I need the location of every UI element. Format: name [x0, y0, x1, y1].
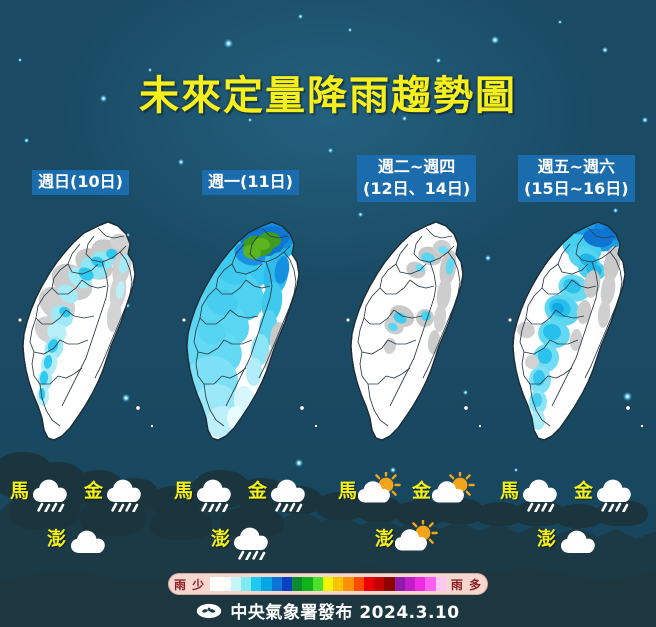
- rain-icon: [194, 472, 238, 510]
- day-label-line2: (12日、14日): [363, 178, 470, 200]
- day-label-line2: (15日~16日): [524, 178, 629, 200]
- legend-swatch-11: [323, 577, 333, 591]
- island-label: 澎: [537, 530, 556, 549]
- footer-text: 中央氣象署發布 2024.3.10: [230, 598, 459, 623]
- offshore-islet: [478, 424, 481, 427]
- island-kinmen: 金: [248, 472, 312, 510]
- offshore-islands-panel-1: 馬 金 澎: [2, 468, 166, 568]
- island-matsu: 馬: [174, 472, 238, 510]
- offshore-islet: [508, 318, 512, 322]
- legend-swatch-10: [313, 577, 323, 591]
- offshore-islands-panel-2: 馬 金 澎: [166, 468, 330, 568]
- taiwan-map-svg: [166, 212, 330, 472]
- offshore-islands-panel-4: 馬 金 澎: [492, 468, 656, 568]
- island-penghu: 澎: [537, 520, 601, 558]
- rainfall-map-panel-3: [330, 212, 494, 472]
- offshore-islet: [346, 318, 350, 322]
- rainfall-map-panel-2: [166, 212, 330, 472]
- island-matsu: 馬: [10, 472, 74, 510]
- legend-swatch-1: [220, 577, 230, 591]
- island-label: 金: [84, 482, 103, 501]
- rain-icon: [520, 472, 564, 510]
- island-label: 金: [248, 482, 267, 501]
- cloud-icon: [557, 520, 601, 558]
- offshore-islet: [300, 406, 304, 410]
- legend-color-scale: [210, 577, 446, 591]
- legend-swatch-14: [354, 577, 364, 591]
- sun-cloud-icon: [358, 472, 402, 510]
- island-kinmen: 金: [574, 472, 638, 510]
- legend-swatch-21: [425, 577, 435, 591]
- rainfall-contour: [227, 406, 245, 430]
- rain-icon: [104, 472, 148, 510]
- offshore-islet: [464, 406, 468, 410]
- footer: 中央氣象署發布 2024.3.10: [0, 598, 656, 623]
- island-kinmen: 金: [412, 472, 476, 510]
- legend-swatch-2: [231, 577, 241, 591]
- island-label: 金: [412, 482, 431, 501]
- island-label: 澎: [211, 530, 230, 549]
- offshore-islet: [640, 424, 643, 427]
- taiwan-map-svg: [330, 212, 494, 472]
- island-label: 馬: [500, 482, 519, 501]
- day-label-line1: 週二~週四: [363, 156, 470, 178]
- day-label-fri-sat: 週五~週六 (15日~16日): [518, 155, 635, 202]
- offshore-islands-panel-3: 馬 金 澎: [330, 468, 494, 568]
- cwa-logo-icon: [196, 602, 222, 620]
- day-label-tue-thu: 週二~週四 (12日、14日): [357, 155, 476, 202]
- island-label: 馬: [174, 482, 193, 501]
- day-label-line1: 週一(11日): [208, 171, 293, 193]
- legend-swatch-13: [343, 577, 353, 591]
- rain-icon: [268, 472, 312, 510]
- rain-icon: [231, 520, 275, 558]
- island-kinmen: 金: [84, 472, 148, 510]
- island-label: 馬: [338, 482, 357, 501]
- offshore-islet: [182, 318, 186, 322]
- day-label-line1: 週日(10日): [38, 171, 123, 193]
- island-penghu: 澎: [47, 520, 111, 558]
- legend-swatch-12: [333, 577, 343, 591]
- day-label-line1: 週五~週六: [524, 156, 629, 178]
- day-label-sunday: 週日(10日): [32, 170, 129, 195]
- legend-label-high: 雨 多: [451, 576, 482, 593]
- legend-swatch-17: [384, 577, 394, 591]
- offshore-islet: [18, 318, 22, 322]
- island-penghu: 澎: [211, 520, 275, 558]
- offshore-islet: [150, 424, 153, 427]
- page-title: 未來定量降雨趨勢圖: [0, 63, 656, 121]
- rainfall-contour: [532, 393, 542, 407]
- rainfall-color-legend: 雨 少 雨 多: [168, 573, 488, 595]
- rain-icon: [30, 472, 74, 510]
- legend-swatch-8: [292, 577, 302, 591]
- offshore-islet: [314, 424, 317, 427]
- legend-swatch-9: [302, 577, 312, 591]
- offshore-islet: [136, 406, 140, 410]
- sun-cloud-icon: [432, 472, 476, 510]
- island-matsu: 馬: [338, 472, 402, 510]
- legend-swatch-5: [261, 577, 271, 591]
- taiwan-map-svg: [2, 212, 166, 472]
- rainfall-map-panel-1: [2, 212, 166, 472]
- island-label: 澎: [47, 530, 66, 549]
- taiwan-map-svg: [492, 212, 656, 472]
- island-label: 馬: [10, 482, 29, 501]
- rain-icon: [594, 472, 638, 510]
- island-penghu: 澎: [375, 520, 439, 558]
- legend-swatch-0: [210, 577, 220, 591]
- day-label-monday: 週一(11日): [202, 170, 299, 195]
- island-label: 金: [574, 482, 593, 501]
- legend-swatch-7: [282, 577, 292, 591]
- legend-swatch-16: [374, 577, 384, 591]
- legend-swatch-4: [251, 577, 261, 591]
- legend-swatch-22: [436, 577, 446, 591]
- offshore-islet: [626, 406, 630, 410]
- sun-cloud-icon: [395, 520, 439, 558]
- legend-swatch-6: [272, 577, 282, 591]
- legend-swatch-20: [415, 577, 425, 591]
- island-matsu: 馬: [500, 472, 564, 510]
- rainfall-map-panel-4: [492, 212, 656, 472]
- legend-swatch-18: [395, 577, 405, 591]
- legend-swatch-19: [405, 577, 415, 591]
- legend-swatch-15: [364, 577, 374, 591]
- cloud-icon: [67, 520, 111, 558]
- legend-label-low: 雨 少: [174, 576, 205, 593]
- island-label: 澎: [375, 530, 394, 549]
- legend-swatch-3: [241, 577, 251, 591]
